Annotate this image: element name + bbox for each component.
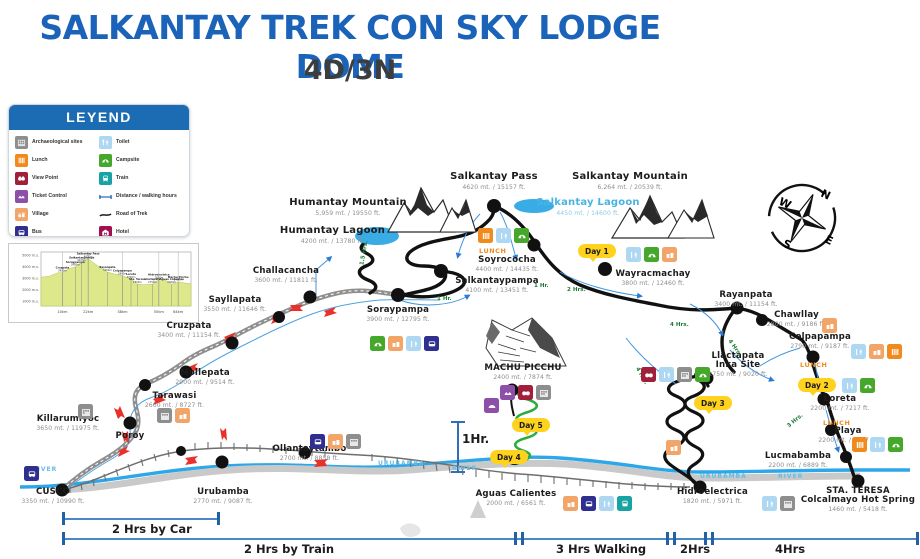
legend-item-bus[interactable]: Bus	[15, 226, 99, 237]
place-name: Salkantay Mountain	[546, 172, 714, 183]
chip-ticket-day5[interactable]	[484, 398, 499, 413]
place-name: Soyrococha	[448, 256, 566, 265]
label-machu-picchu: MACHU PICCHU 2400 mt. / 7874 ft.	[464, 364, 582, 381]
legend-item-distance[interactable]: Distance / walking hours	[99, 190, 183, 203]
hours-soyrococha: 1 Hr.	[534, 283, 549, 289]
chip-archaeological-hidroelectrica[interactable]	[780, 496, 795, 511]
place-altitude: 4200 mt. / 13780 ft.	[255, 238, 410, 245]
distance-line-icon	[99, 190, 112, 203]
machu-picchu-illustration	[486, 318, 566, 366]
lunch-icon	[15, 154, 28, 167]
place-name: Rayanpata	[690, 291, 802, 300]
day-badge-4[interactable]: Day 4	[490, 450, 528, 464]
chip-archaeological-machupicchu[interactable]	[536, 385, 551, 400]
svg-text:3000 m.s.: 3000 m.s.	[22, 276, 39, 280]
svg-text:3400m: 3400m	[58, 268, 67, 272]
place-name: Soraypampa	[338, 306, 458, 315]
chip-toilet-soraypampa[interactable]	[406, 336, 421, 351]
place-name: Colpapampa	[762, 333, 878, 342]
place-name: Salkantay Pass	[424, 172, 564, 183]
place-altitude: 1460 mt. / 5418 ft.	[796, 506, 920, 513]
svg-text:38km: 38km	[117, 310, 128, 314]
viewpoint-icon	[15, 172, 28, 185]
timeline-label-train: 2 Hrs by Train	[244, 542, 334, 556]
archaeological-site-icon	[15, 136, 28, 149]
chip-campsite-llactapata[interactable]	[695, 367, 710, 382]
svg-text:1000 m.s.: 1000 m.s.	[22, 299, 39, 303]
compass-rose: N W E S	[758, 174, 846, 262]
label-sta-teresa: STA. TERESA Colcalmayo Hot Spring 1460 m…	[796, 487, 920, 513]
chip-campsite-playa[interactable]	[888, 437, 903, 452]
chip-viewpoint-machupicchu[interactable]	[518, 385, 533, 400]
chip-lunch-colpapampa[interactable]	[887, 344, 902, 359]
place-name: Urubamba	[168, 488, 278, 497]
svg-text:5000 m.s.: 5000 m.s.	[22, 253, 39, 257]
place-name: Playa	[802, 427, 894, 436]
place-altitude: 4450 mt. / 14600 ft.	[532, 210, 644, 217]
legend-item-toilet[interactable]: Toilet	[99, 136, 183, 149]
chip-village-tarawasi[interactable]	[175, 408, 190, 423]
hours-rayanpata: 4 Hrs.	[670, 322, 689, 328]
legend-item-village[interactable]: Village	[15, 208, 99, 221]
node-soraypampa	[391, 288, 405, 302]
chip-bus-aguascalientes[interactable]	[581, 496, 596, 511]
timeline-cap	[521, 532, 524, 545]
chip-toilet-llactapata[interactable]	[659, 367, 674, 382]
svg-text:1500m: 1500m	[133, 280, 142, 284]
chip-archaeological-llactapata[interactable]	[677, 367, 692, 382]
timeline-label-car: 2 Hrs by Car	[112, 522, 192, 536]
chip-campsite-soyrococha[interactable]	[514, 228, 529, 243]
place-altitude: 3350 mt. / 10990 ft.	[0, 498, 108, 505]
chip-ticket-machupicchu[interactable]	[500, 385, 515, 400]
label-tarawasi: Tarawasi 2660 mt. / 8727 ft.	[122, 392, 227, 409]
chip-toilet-playa[interactable]	[870, 437, 885, 452]
svg-text:4620m: 4620m	[84, 254, 93, 258]
label-aguas-calientes: Aguas Calientes 2000 mt. / 6561 ft.	[455, 490, 577, 507]
place-altitude: 2700 mt. / 8858 ft.	[252, 455, 367, 462]
legend-item-ticket-control[interactable]: Ticket Control	[15, 190, 99, 203]
chip-toilet-loreta[interactable]	[842, 378, 857, 393]
node-salkantaypampa	[434, 264, 448, 278]
chip-toilet-aguascalientes[interactable]	[599, 496, 614, 511]
chip-lunch-playa[interactable]	[852, 437, 867, 452]
timeline-cap	[514, 532, 517, 545]
legend-label: Toilet	[116, 139, 129, 146]
label-poroy: Poroy	[95, 432, 165, 441]
place-name: Loreta	[790, 395, 890, 404]
place-name: Salkantay Lagoon	[532, 198, 644, 209]
label-soraypampa: Soraypampa 3900 mt. / 12795 ft.	[338, 306, 458, 323]
village-icon	[15, 208, 28, 221]
place-name-2: Colcalmayo Hot Spring	[796, 496, 920, 505]
place-name: Cruzpata	[134, 322, 244, 331]
place-altitude: 6,264 mt. / 20539 ft.	[546, 184, 714, 191]
hours-wayracmachay: 2 Hrs.	[567, 287, 586, 293]
timeline-cap	[62, 532, 65, 545]
legend-column-right: Toilet Campsite Train Distance / walking…	[99, 136, 183, 237]
label-soyrococha: Soyrococha 4400 mt. / 14435 ft.	[448, 256, 566, 273]
place-altitude: 5,959 mt. / 19550 ft.	[268, 210, 428, 217]
legend-item-train[interactable]: Train	[99, 172, 183, 185]
day-badge-3[interactable]: Day 3	[694, 396, 732, 410]
place-name: Humantay Lagoon	[255, 226, 410, 237]
place-name: Mollepata	[150, 369, 260, 378]
place-altitude: 3650 mt. / 11975 ft.	[10, 425, 126, 432]
label-cruzpata: Cruzpata 3400 mt. / 11154 ft.	[134, 322, 244, 339]
chip-lunch-soyrococha[interactable]	[478, 228, 493, 243]
chip-archaeological-ollantaytambo[interactable]	[346, 434, 361, 449]
legend-label: Archaeological sites	[32, 139, 82, 146]
label-humantay-mountain: Humantay Mountain 5,959 mt. / 19550 ft.	[268, 198, 428, 217]
hotel-icon	[99, 226, 112, 237]
chip-bus-ollantaytambo[interactable]	[310, 434, 325, 449]
chip-bus-cusco[interactable]	[24, 466, 39, 481]
legend-label: Lunch	[32, 157, 48, 164]
hours-guides	[316, 212, 838, 450]
legend-column-left: Archaeological sites Lunch View Point Ti…	[15, 136, 99, 237]
label-mollepata: Mollepata 2900 mt. / 9514 ft.	[150, 369, 260, 386]
legend-item-campsite[interactable]: Campsite	[99, 154, 183, 167]
place-name: Aguas Calientes	[455, 490, 577, 499]
place-name: Tarawasi	[122, 392, 227, 401]
label-rayanpata: Rayanpata 3400 mt. / 11154 ft.	[690, 291, 802, 308]
legend-item-hotel[interactable]: Hotel	[99, 226, 183, 237]
ticket-control-icon	[15, 190, 28, 203]
place-name: Poroy	[95, 432, 165, 441]
lunch-label-colpapampa: LUNCH	[800, 361, 827, 369]
legend-label: Campsite	[116, 157, 139, 164]
cloud-shape	[400, 523, 421, 537]
place-name: MACHU PICCHU	[464, 364, 582, 373]
river-label-urubamba-mid: URUBAMBA	[378, 460, 425, 467]
legend-label: Train	[116, 175, 128, 182]
chip-campsite-wayracmachay[interactable]	[644, 247, 659, 262]
node-poroy	[176, 446, 186, 456]
svg-text:E: E	[823, 233, 835, 248]
legend-label: Bus	[32, 229, 42, 236]
svg-text:10km: 10km	[57, 310, 68, 314]
legend-label: Village	[32, 211, 49, 218]
timeline-cap	[62, 512, 65, 525]
day-badge-1[interactable]: Day 1	[578, 244, 616, 258]
label-sayllapata: Sayllapata 3550 mt. / 11646 ft.	[180, 296, 290, 313]
chip-village-ollantaytambo[interactable]	[328, 434, 343, 449]
toilet-icon	[99, 136, 112, 149]
place-name: CUSCO	[0, 488, 108, 497]
timeline-bar-car	[63, 518, 219, 520]
timeline-cap	[711, 532, 714, 545]
legend-label: Road of Trek	[116, 211, 147, 218]
place-name: Wayracmachay	[588, 270, 718, 279]
bus-icon	[15, 226, 28, 237]
place-altitude: 3550 mt. / 11646 ft.	[180, 306, 290, 313]
road-of-trek-icon	[99, 208, 112, 221]
svg-text:22km: 22km	[83, 310, 94, 314]
train-icon	[99, 172, 112, 185]
svg-text:N: N	[819, 187, 833, 203]
node-salkantay-pass	[487, 199, 501, 213]
timeline-cap	[916, 532, 919, 545]
place-name: Challacancha	[227, 267, 345, 276]
chip-toilet-hidroelectrica[interactable]	[762, 496, 777, 511]
chip-campsite-loreta[interactable]	[860, 378, 875, 393]
place-altitude: 1820 mt. / 5971 ft.	[655, 498, 770, 505]
label-hidroelectrica: Hidroelectrica 1820 mt. / 5971 ft.	[655, 488, 770, 505]
legend-item-road-of-trek[interactable]: Road of Trek	[99, 208, 183, 221]
svg-text:3400m: 3400m	[103, 268, 112, 272]
timeline-label-four-hrs: 4Hrs	[775, 542, 805, 556]
legend-label: Distance / walking hours	[116, 193, 177, 200]
lunch-label-playa: LUNCH	[823, 419, 850, 427]
place-altitude: 4400 mt. / 14435 ft.	[448, 266, 566, 273]
place-altitude: 3800 mt. / 12460 ft.	[588, 280, 718, 287]
chip-toilet-soyrococha[interactable]	[496, 228, 511, 243]
river-label-valley: RIVER	[452, 465, 477, 472]
place-altitude: 3900 mt. / 12795 ft.	[338, 316, 458, 323]
label-killarumiyoc: Killarumiyoc 3650 mt. / 11975 ft.	[10, 415, 126, 432]
place-name: Hidroelectrica	[655, 488, 770, 497]
timeline-label-walking: 3 Hrs Walking	[556, 542, 646, 556]
label-cusco: CUSCO 3350 mt. / 10990 ft.	[0, 488, 108, 505]
campsite-icon	[99, 154, 112, 167]
river-label-urubamba-right: URUBAMBA	[700, 473, 747, 480]
chip-toilet-wayracmachay[interactable]	[626, 247, 641, 262]
legend-item-view-point[interactable]: View Point	[15, 172, 99, 185]
place-name: Humantay Mountain	[268, 198, 428, 209]
label-wayracmachay: Wayracmachay 3800 mt. / 12460 ft.	[588, 270, 718, 287]
chip-village-lucmabamba[interactable]	[666, 440, 681, 455]
chip-village-colpapampa[interactable]	[869, 344, 884, 359]
svg-text:2750m: 2750m	[148, 280, 157, 284]
node-challacancha	[304, 291, 317, 304]
place-altitude: 4620 mt. / 15157 ft.	[424, 184, 564, 191]
place-altitude: 2200 mt. / 6889 ft.	[740, 462, 856, 469]
svg-text:3900m: 3900m	[71, 263, 80, 267]
svg-text:55km: 55km	[154, 310, 165, 314]
chip-village-wayracmachay[interactable]	[662, 247, 677, 262]
legend-label: View Point	[32, 175, 58, 182]
node-urubamba	[216, 456, 229, 469]
svg-text:2000 m.s.: 2000 m.s.	[22, 288, 39, 292]
legend-heading: LEYEND	[9, 105, 189, 130]
timeline-cap	[673, 532, 676, 545]
legend-item-lunch[interactable]: Lunch	[15, 154, 99, 167]
svg-text:2400m: 2400m	[174, 278, 183, 282]
label-salkantay-mountain: Salkantay Mountain 6,264 mt. / 20539 ft.	[546, 172, 714, 191]
chip-village-aguascalientes[interactable]	[563, 496, 578, 511]
svg-text:4000 m.s.: 4000 m.s.	[22, 265, 39, 269]
label-urubamba: Urubamba 2770 mt. / 9087 ft.	[168, 488, 278, 505]
node-soyrococha	[528, 239, 541, 252]
place-name: Lucmabamba	[740, 452, 856, 461]
place-altitude: 3600 mt. / 11811 ft.	[227, 277, 345, 284]
timeline-cap	[217, 512, 220, 525]
chip-village-soraypampa[interactable]	[388, 336, 403, 351]
place-altitude: 2660 mt. / 8727 ft.	[122, 402, 227, 409]
place-altitude: 3400 mt. / 11154 ft.	[690, 301, 802, 308]
label-loreta: Loreta 2200 mt. / 7217 ft.	[790, 395, 890, 412]
chip-archaeological-tarawasi[interactable]	[157, 408, 172, 423]
chip-campsite-soraypampa[interactable]	[370, 336, 385, 351]
svg-text:2200m: 2200m	[127, 275, 136, 279]
svg-text:4100m: 4100m	[77, 258, 86, 262]
place-altitude: 2900 mt. / 9514 ft.	[150, 379, 260, 386]
river-label-right: RIVER	[778, 473, 803, 480]
hours-salkantaypampa: 1 Hr.	[437, 296, 452, 302]
label-challacancha: Challacancha 3600 mt. / 11811 ft.	[227, 267, 345, 284]
day-badge-5[interactable]: Day 5	[512, 418, 550, 432]
label-lucmabamba: Lucmabamba 2200 mt. / 6889 ft.	[740, 452, 856, 469]
place-altitude: 2000 mt. / 6561 ft.	[455, 500, 577, 507]
timeline-cap	[704, 532, 707, 545]
elevation-profile-chart: 5000 m.s.4000 m.s.3000 m.s.2000 m.s.1000…	[8, 243, 199, 323]
timeline-cap	[666, 532, 669, 545]
legend-panel: LEYEND Archaeological sites Lunch View P…	[8, 104, 190, 237]
day-badge-2[interactable]: Day 2	[798, 378, 836, 392]
chip-bus-soraypampa[interactable]	[424, 336, 439, 351]
place-name: Sayllapata	[180, 296, 290, 305]
legend-item-archaeological-sites[interactable]: Archaeological sites	[15, 136, 99, 149]
legend-label: Hotel	[116, 229, 129, 236]
chip-archaeological-killarumiyoc[interactable]	[78, 404, 93, 419]
place-altitude: 2200 mt. / 7217 ft.	[790, 405, 890, 412]
timeline-bar-train	[63, 538, 919, 540]
chip-viewpoint-llactapata[interactable]	[641, 367, 656, 382]
place-name: Killarumiyoc	[10, 415, 126, 424]
place-altitude: 2770 mt. / 9087 ft.	[168, 498, 278, 505]
chip-train-aguascalientes[interactable]	[617, 496, 632, 511]
place-altitude: 2400 mt. / 7874 ft.	[464, 374, 582, 381]
label-salkantay-lagoon: Salkantay Lagoon 4450 mt. / 14600 ft.	[532, 198, 644, 217]
label-salkantay-pass: Salkantay Pass 4620 mt. / 15157 ft.	[424, 172, 564, 191]
place-altitude: 3400 mt. / 11154 ft.	[134, 332, 244, 339]
lunch-label-soyrococha: LUNCH	[479, 247, 506, 255]
label-humantay-lagoon: Humantay Lagoon 4200 mt. / 13780 ft.	[255, 226, 410, 245]
legend-label: Ticket Control	[32, 193, 67, 200]
chip-toilet-colpapampa[interactable]	[851, 344, 866, 359]
chip-village-chawllay[interactable]	[822, 318, 837, 333]
